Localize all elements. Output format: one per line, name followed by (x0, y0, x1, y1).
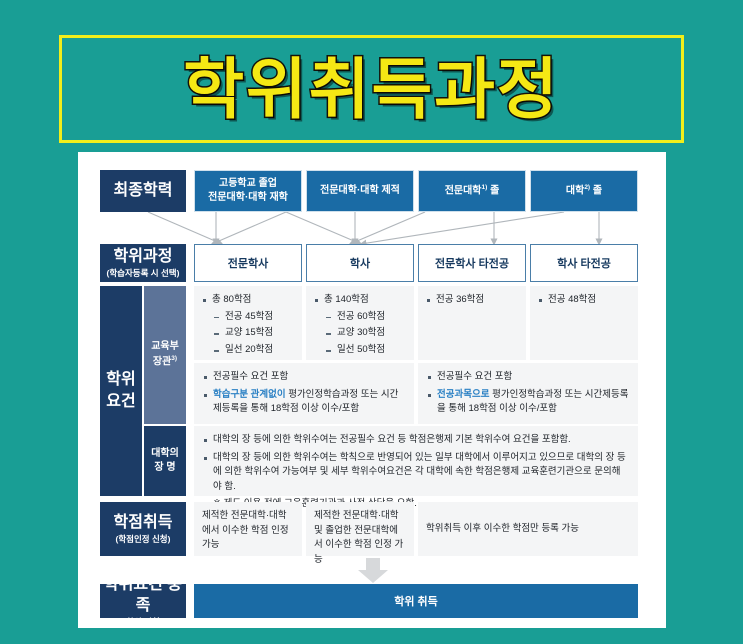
side-label-moe: 교육부장관3) (144, 286, 186, 424)
credits-cell-1: 총 80학점 전공 45학점 교양 15학점 일선 20학점 (194, 286, 302, 360)
row-label-completion: 학위요건 충족 (학위 신청) (100, 584, 186, 618)
highlight-text-right: 전공과목으로 (437, 389, 489, 400)
row-label-degree-course: 학위과정 (학습자등록 시 선택) (100, 244, 186, 282)
credits-cell-3: 전공 36학점 (418, 286, 526, 360)
diagram-panel: 최종학력 고등학교 졸업전문대학·대학 재학 전문대학·대학 제적 전문대학1)… (78, 152, 666, 628)
moe-notes-left: 전공필수 요건 포함 학습구분 관계없이 평가인정학습과정 또는 시간제등록을 … (194, 363, 414, 424)
down-arrow-icon (356, 558, 390, 584)
degree-course-cell-1: 전문학사 (194, 244, 302, 282)
row-label-degree-requirements: 학위요건 (100, 286, 142, 496)
result-bar: 학위 취득 (194, 584, 638, 618)
row-label-credit-acquisition: 학점취득 (학점인정 신청) (100, 502, 186, 556)
credit-acquisition-cell-1: 제적한 전문대학·대학에서 이수한 학점 인정 가능 (194, 502, 302, 556)
final-education-cell-2: 전문대학·대학 제적 (306, 170, 414, 212)
page-title: 학위취득과정 (183, 56, 559, 122)
credits-cell-4: 전공 48학점 (530, 286, 638, 360)
row-label-final-education: 최종학력 (100, 170, 186, 212)
credit-acquisition-cell-2: 제적한 전문대학·대학 및 졸업한 전문대학에서 이수한 학점 인정 가능 (306, 502, 414, 556)
moe-notes-right: 전공필수 요건 포함 전공과목으로 평가인정학습과정 또는 시간제등록을 통해 … (418, 363, 638, 424)
highlight-text-left: 학습구분 관계없이 (213, 389, 286, 400)
final-education-cell-1: 고등학교 졸업전문대학·대학 재학 (194, 170, 302, 212)
credit-acquisition-cell-3: 학위취득 이후 이수한 학점만 등록 가능 (418, 502, 638, 556)
university-head-notes: 대학의 장 등에 의한 학위수여는 전공필수 요건 등 학점은행제 기본 학위수… (194, 426, 638, 496)
final-education-cell-3: 전문대학1) 졸 (418, 170, 526, 212)
credits-cell-2: 총 140학점 전공 60학점 교양 30학점 일선 50학점 (306, 286, 414, 360)
degree-course-cell-3: 전문학사 타전공 (418, 244, 526, 282)
side-label-university-head: 대학의장 명 (144, 426, 186, 496)
final-education-cell-4: 대학2) 졸 (530, 170, 638, 212)
degree-course-cell-4: 학사 타전공 (530, 244, 638, 282)
title-banner: 학위취득과정 (59, 35, 684, 143)
degree-course-cell-2: 학사 (306, 244, 414, 282)
